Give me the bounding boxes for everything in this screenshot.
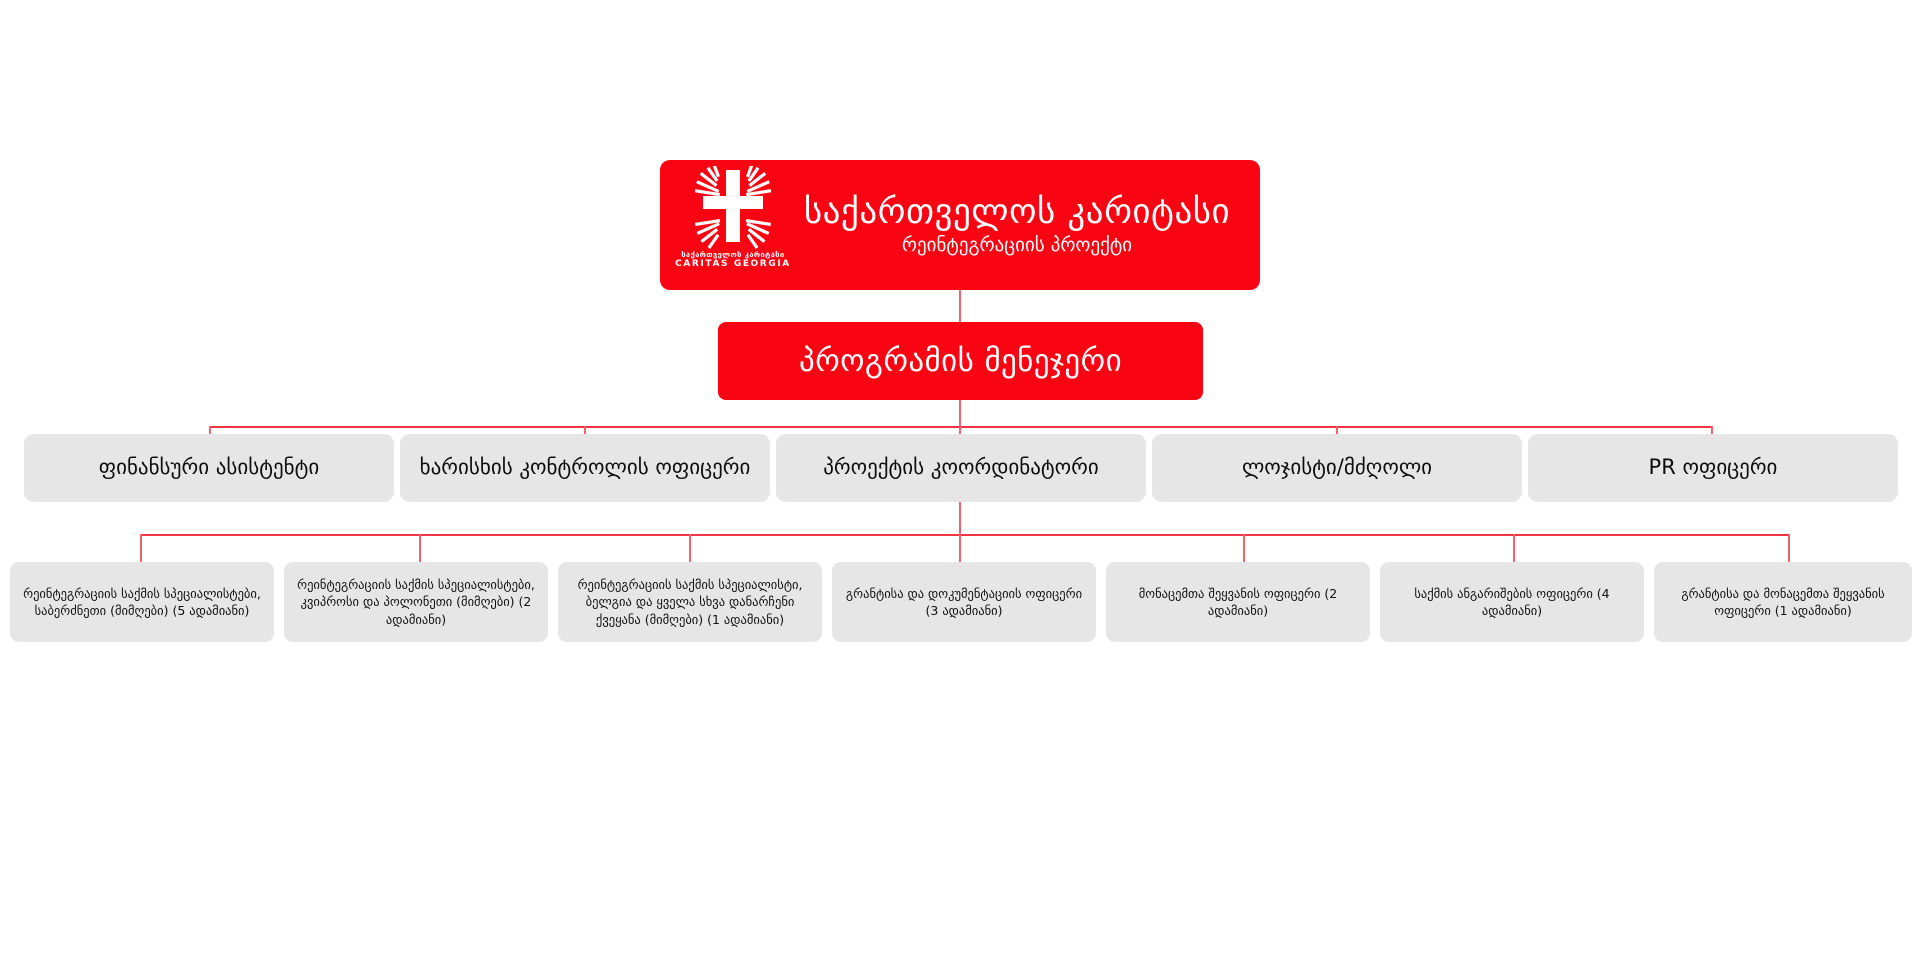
node-quality-control-officer[interactable]: ხარისხის კონტროლის ოფიცერი xyxy=(400,434,770,502)
node-case-reporting-officer[interactable]: საქმის ანგარიშების ოფიცერი (4 ადამიანი) xyxy=(1380,562,1644,642)
connector-level3-drop-1 xyxy=(140,534,142,562)
connector-level2-drop-1 xyxy=(209,426,211,434)
node-case-specialist-belgium-other[interactable]: რეინტეგრაციის საქმის სპეციალისტი, ბელგია… xyxy=(558,562,822,642)
connector-root-to-manager xyxy=(959,290,961,322)
connector-coordinator-stem xyxy=(959,502,961,536)
node-grant-documentation-officer[interactable]: გრანტისა და დოკუმენტაციის ოფიცერი (3 ადა… xyxy=(832,562,1096,642)
caritas-cross-icon xyxy=(685,166,781,250)
connector-level2-drop-3 xyxy=(959,426,961,434)
org-chart: საქართველოს კარიტასი CARITAS GEORGIA საქ… xyxy=(0,0,1920,957)
connector-level3-bus xyxy=(140,534,1788,536)
org-root-text: საქართველოს კარიტასი რეინტეგრაციის პროექ… xyxy=(792,193,1260,258)
node-program-manager[interactable]: პროგრამის მენეჯერი xyxy=(718,322,1203,400)
org-subtitle: რეინტეგრაციის პროექტი xyxy=(792,233,1242,258)
node-case-specialists-cyprus-poland[interactable]: რეინტეგრაციის საქმის სპეციალისტები, კვიპ… xyxy=(284,562,548,642)
org-root-card[interactable]: საქართველოს კარიტასი CARITAS GEORGIA საქ… xyxy=(660,160,1260,290)
connector-level3-drop-5 xyxy=(1243,534,1245,562)
connector-level3-drop-7 xyxy=(1788,534,1790,562)
node-data-entry-officer[interactable]: მონაცემთა შეყვანის ოფიცერი (2 ადამიანი) xyxy=(1106,562,1370,642)
connector-level3-drop-2 xyxy=(419,534,421,562)
connector-level3-drop-3 xyxy=(689,534,691,562)
node-project-coordinator[interactable]: პროექტის კოორდინატორი xyxy=(776,434,1146,502)
node-case-specialists-greece[interactable]: რეინტეგრაციის საქმის სპეციალისტები, საბე… xyxy=(10,562,274,642)
logo-caption-georgian: საქართველოს კარიტასი xyxy=(681,250,784,259)
connector-level2-drop-5 xyxy=(1711,426,1713,434)
node-financial-assistant[interactable]: ფინანსური ასისტენტი xyxy=(24,434,394,502)
node-logistician-driver[interactable]: ლოჯისტი/მძღოლი xyxy=(1152,434,1522,502)
connector-level2-drop-2 xyxy=(584,426,586,434)
caritas-georgia-logo: საქართველოს კარიტასი CARITAS GEORGIA xyxy=(674,166,792,284)
logo-caption-english: CARITAS GEORGIA xyxy=(675,259,791,270)
connector-manager-stem xyxy=(959,400,961,428)
node-pr-officer[interactable]: PR ოფიცერი xyxy=(1528,434,1898,502)
connector-level2-drop-4 xyxy=(1336,426,1338,434)
connector-level3-drop-6 xyxy=(1513,534,1515,562)
org-title: საქართველოს კარიტასი xyxy=(792,193,1242,232)
connector-level3-drop-4 xyxy=(959,534,961,562)
node-grant-data-entry-officer[interactable]: გრანტისა და მონაცემთა შეყვანის ოფიცერი (… xyxy=(1654,562,1912,642)
